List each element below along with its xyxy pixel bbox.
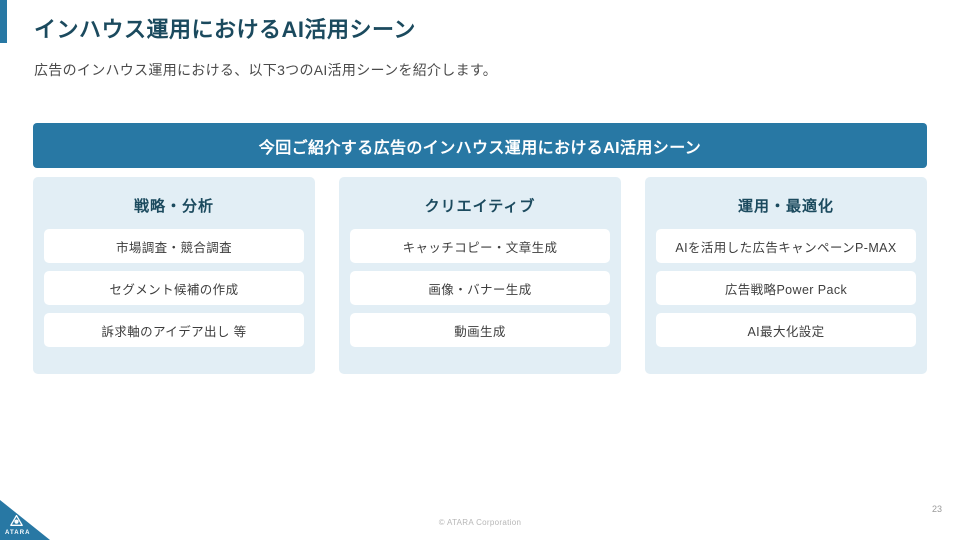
scene-item-list: 市場調査・競合調査 セグメント候補の作成 訴求軸のアイデア出し 等 [44, 229, 304, 347]
scene-item: 広告戦略Power Pack [656, 271, 916, 305]
scene-column-heading: 戦略・分析 [44, 195, 304, 216]
title-accent-bar [0, 0, 7, 43]
scene-item: AI最大化設定 [656, 313, 916, 347]
page-subtitle: 広告のインハウス運用における、以下3つのAI活用シーンを紹介します。 [34, 60, 497, 80]
scene-column-heading: 運用・最適化 [656, 195, 916, 216]
section-banner-label: 今回ご紹介する広告のインハウス運用におけるAI活用シーン [259, 134, 701, 158]
scene-item: AIを活用した広告キャンペーンP-MAX [656, 229, 916, 263]
scene-column-strategy: 戦略・分析 市場調査・競合調査 セグメント候補の作成 訴求軸のアイデア出し 等 [33, 177, 315, 374]
scene-item-list: キャッチコピー・文章生成 画像・バナー生成 動画生成 [350, 229, 610, 347]
scene-item: 市場調査・競合調査 [44, 229, 304, 263]
scene-item: セグメント候補の作成 [44, 271, 304, 305]
footer-logo-text: ATARA [5, 530, 31, 536]
page-number: 23 [932, 504, 942, 514]
copyright-text: © ATARA Corporation [0, 518, 960, 527]
scene-item-list: AIを活用した広告キャンペーンP-MAX 広告戦略Power Pack AI最大… [656, 229, 916, 347]
scene-item: 訴求軸のアイデア出し 等 [44, 313, 304, 347]
scene-column-operations: 運用・最適化 AIを活用した広告キャンペーンP-MAX 広告戦略Power Pa… [645, 177, 927, 374]
scene-item: キャッチコピー・文章生成 [350, 229, 610, 263]
scene-item: 画像・バナー生成 [350, 271, 610, 305]
scene-column-heading: クリエイティブ [350, 195, 610, 216]
section-banner: 今回ご紹介する広告のインハウス運用におけるAI活用シーン [33, 123, 927, 168]
page-title: インハウス運用におけるAI活用シーン [34, 12, 416, 44]
slide: インハウス運用におけるAI活用シーン 広告のインハウス運用における、以下3つのA… [0, 0, 960, 540]
scene-columns: 戦略・分析 市場調査・競合調査 セグメント候補の作成 訴求軸のアイデア出し 等 … [33, 177, 927, 374]
scene-item: 動画生成 [350, 313, 610, 347]
scene-column-creative: クリエイティブ キャッチコピー・文章生成 画像・バナー生成 動画生成 [339, 177, 621, 374]
